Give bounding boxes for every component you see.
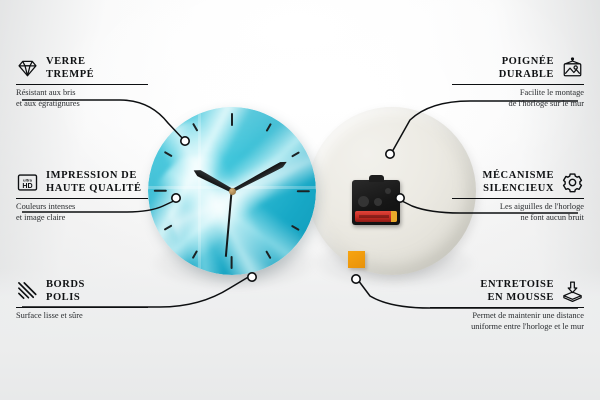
svg-text:HD: HD xyxy=(22,182,32,190)
feature-title-text: MÉCANISME SILENCIEUX xyxy=(483,170,554,195)
infographic-canvas: VERRE TREMPÉ Résistant aux bris et aux é… xyxy=(0,0,600,400)
feature-title-text: POIGNÉE DURABLE xyxy=(499,56,554,81)
feature-high-quality-print[interactable]: ultra HD IMPRESSION DE HAUTE QUALITÉ Cou… xyxy=(16,170,148,224)
feature-foam-spacer[interactable]: ENTRETOISE EN MOUSSE Permet de maintenir… xyxy=(430,279,584,333)
feature-divider xyxy=(16,307,148,308)
feature-description: Surface lisse et sûre xyxy=(16,311,148,322)
feature-divider xyxy=(452,84,584,85)
mechanism-dial-3 xyxy=(385,188,391,194)
mechanism-dial-1 xyxy=(358,196,369,207)
feature-durable-hanger[interactable]: POIGNÉE DURABLE Facilite le montage de l… xyxy=(452,56,584,110)
gear-icon xyxy=(561,171,584,194)
feature-title-row: VERRE TREMPÉ xyxy=(16,56,148,81)
ultra-hd-icon: ultra HD xyxy=(16,171,39,194)
feature-title-row: MÉCANISME SILENCIEUX xyxy=(452,170,584,195)
feature-silent-mechanism[interactable]: MÉCANISME SILENCIEUX Les aiguilles de l'… xyxy=(452,170,584,224)
hanging-picture-icon xyxy=(561,57,584,80)
battery-label-stripe xyxy=(359,215,389,218)
feature-divider xyxy=(430,307,584,308)
feature-divider xyxy=(16,84,148,85)
diamond-icon xyxy=(16,57,39,80)
feature-title-text: IMPRESSION DE HAUTE QUALITÉ xyxy=(46,170,142,195)
clock-tick-9 xyxy=(154,190,232,192)
mechanism-hanger-tab xyxy=(369,175,384,182)
diagonal-lines-icon xyxy=(16,280,39,303)
feature-title-text: ENTRETOISE EN MOUSSE xyxy=(480,279,554,304)
battery-positive-terminal xyxy=(391,211,397,222)
mechanism-dial-2 xyxy=(374,198,382,206)
feature-title-row: ENTRETOISE EN MOUSSE xyxy=(430,279,584,304)
feature-divider xyxy=(452,198,584,199)
battery xyxy=(355,211,397,222)
feature-description: Résistant aux bris et aux égratignures xyxy=(16,88,148,109)
feature-title-row: POIGNÉE DURABLE xyxy=(452,56,584,81)
clock-tick-0 xyxy=(231,113,233,191)
feature-tempered-glass[interactable]: VERRE TREMPÉ Résistant aux bris et aux é… xyxy=(16,56,148,110)
foam-spacer xyxy=(348,251,365,268)
feature-description: Permet de maintenir une distance uniform… xyxy=(430,311,584,332)
clock-front-view xyxy=(148,107,316,275)
press-down-foam-icon xyxy=(561,280,584,303)
feature-title-text: BORDS POLIS xyxy=(46,279,85,304)
feature-divider xyxy=(16,198,148,199)
clock-mechanism xyxy=(352,180,400,225)
clock-tick-3 xyxy=(232,190,310,192)
clock-center-cap xyxy=(229,188,236,195)
feature-description: Les aiguilles de l'horloge ne font aucun… xyxy=(452,202,584,223)
feature-description: Facilite le montage de l'horloge sur le … xyxy=(452,88,584,109)
feature-title-text: VERRE TREMPÉ xyxy=(46,56,94,81)
feature-title-row: BORDS POLIS xyxy=(16,279,148,304)
feature-title-row: ultra HD IMPRESSION DE HAUTE QUALITÉ xyxy=(16,170,148,195)
feature-description: Couleurs intenses et image claire xyxy=(16,202,148,223)
feature-polished-edges[interactable]: BORDS POLIS Surface lisse et sûre xyxy=(16,279,148,322)
